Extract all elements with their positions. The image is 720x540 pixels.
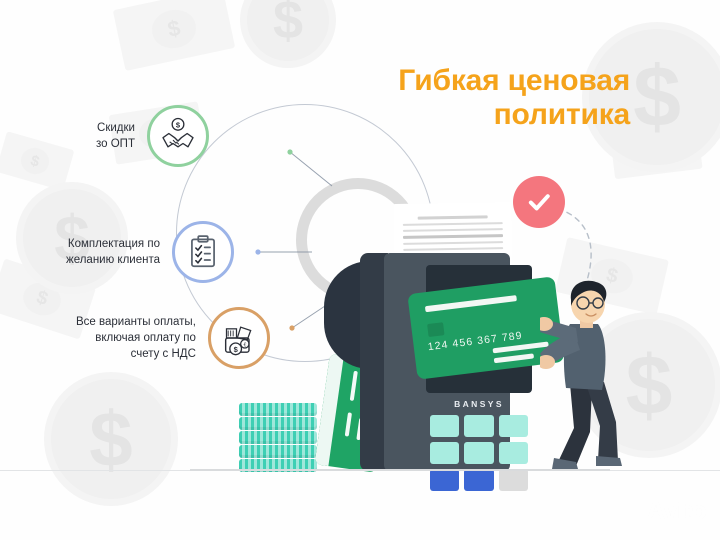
keypad-key[interactable] [499,442,528,464]
person-illustration [540,276,660,476]
keypad-key[interactable] [430,415,459,437]
receipt-line [403,234,502,239]
coin-row [239,417,317,430]
svg-text:$: $ [176,121,181,130]
clipboard-checklist-icon [184,233,222,271]
feature-discounts-icon-circle: $ [147,105,209,167]
receipt-line [403,228,502,232]
terminal-brand-label: BANSYS [426,399,532,409]
receipt-line [404,247,503,251]
card-chip-icon [427,322,444,337]
keypad-key[interactable] [430,469,459,491]
handshake-dollar-icon: $ [158,116,198,156]
feature-payment-options-label: Все варианты оплаты, включая оплату по с… [76,314,208,363]
coin-row [239,445,317,458]
svg-text:€: € [243,342,246,348]
feature-payment-options-icon-circle: € $ [208,307,270,369]
keypad-key[interactable] [464,442,493,464]
terminal-keypad[interactable] [430,415,528,491]
keypad-key[interactable] [464,469,493,491]
feature-discounts-label: Скидки зо ОПТ [96,120,147,153]
keypad-key[interactable] [464,415,493,437]
avito-watermark: Avito [618,497,706,526]
wallet-money-icon: € $ [219,318,259,358]
feature-configuration-icon-circle [172,221,234,283]
avito-logo-icon [618,499,644,525]
coin-row [239,403,317,416]
status-badge [513,176,565,228]
avito-watermark-label: Avito [647,497,706,526]
keypad-key[interactable] [499,415,528,437]
card-stripe [494,353,534,363]
ground-shadow [190,469,610,471]
coin-stack [239,403,317,473]
card-stripe [425,295,517,312]
promo-banner: $ $ $ $ $ $ $ $ $ $ [0,0,720,540]
receipt-line [403,222,502,226]
card-stripe [345,412,352,436]
receipt-line [404,241,503,245]
feature-configuration[interactable]: Комплектация по желанию клиента [66,221,234,283]
feature-discounts[interactable]: Скидки зо ОПТ $ [96,105,209,167]
receipt-line [417,215,488,219]
keypad-key[interactable] [499,469,528,491]
check-icon [525,188,553,216]
feature-payment-options[interactable]: Все варианты оплаты, включая оплату по с… [76,307,270,369]
keypad-key[interactable] [430,442,459,464]
coin-row [239,431,317,444]
feature-configuration-label: Комплектация по желанию клиента [66,236,172,269]
